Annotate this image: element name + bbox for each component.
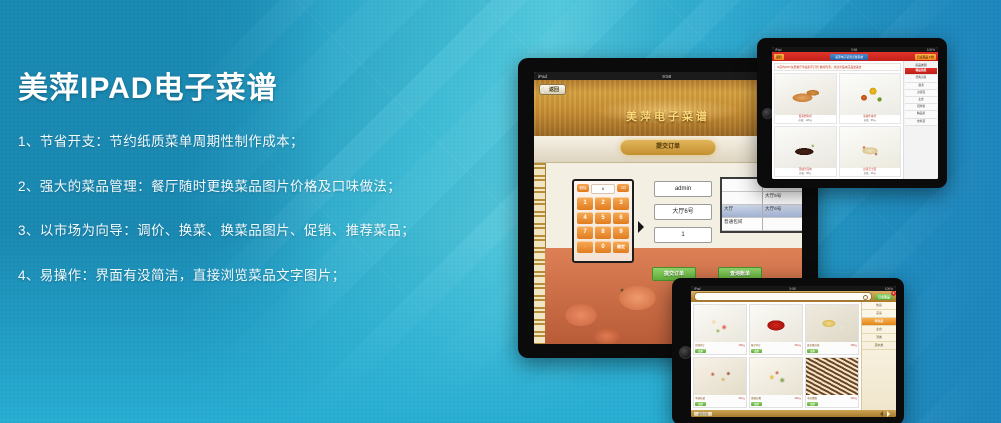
dish-name-row: 青椒炒蛋 ¥26元 [751, 396, 801, 400]
keypad-key[interactable]: 9 [613, 226, 629, 239]
category-item[interactable]: 热菜 [862, 302, 896, 310]
tablet-bottom-screen: iPad 9:58 100% 已点菜品 3 宫保鸡丁 [691, 286, 896, 417]
dish-price: ¥26元 [795, 396, 801, 400]
dish-card[interactable]: 宫保鸡丁 ¥38元 点菜 [693, 304, 747, 355]
promo-notice: ※店内WIFI免费餐厅零差别不打折 餐前例汤。欢迎光临本店品尝美食 [774, 63, 901, 71]
user-field[interactable]: admin [654, 181, 712, 197]
room-area-cell[interactable] [722, 192, 763, 205]
feature-bullet-2: 2、强大的菜品管理：餐厅随时更换菜品图片价格及口味做法； [18, 176, 448, 198]
dish-name: 宫保鸡丁 [695, 343, 705, 347]
keypad-display: 6 [591, 184, 615, 194]
add-to-order-button[interactable]: 点菜 [695, 402, 706, 406]
keypad-backspace-icon[interactable]: ⌫ [617, 184, 629, 192]
category-item-active[interactable]: 精品热菜 [905, 68, 937, 75]
dish-card[interactable]: 黑椒汁煎肉 价格：88元 [774, 126, 837, 177]
dish-price: ¥42元 [795, 343, 801, 347]
dish-caption: 奶香芝士面 价格：48元 [840, 168, 901, 176]
dish-image [750, 358, 802, 395]
add-to-order-button[interactable]: 点菜 [695, 349, 706, 353]
dish-price: 价格：88元 [775, 172, 836, 175]
table-field[interactable]: 大厅6号 [654, 204, 712, 220]
dish-price: 价格：68元 [840, 119, 901, 122]
dish-image [694, 358, 746, 395]
dish-card[interactable]: 干锅花菜 ¥32元 点菜 [693, 357, 747, 408]
category-item[interactable]: 汤类 [862, 334, 896, 342]
menu-toolbar: 已点菜品 3 [691, 291, 896, 302]
dish-card[interactable]: 辣子鸡丁 ¥42元 点菜 [749, 304, 803, 355]
category-item[interactable]: 主食 [862, 326, 896, 334]
status-carrier: iPad [694, 287, 700, 291]
keypad-key[interactable]: · [577, 241, 593, 254]
dish-action-row: 点菜 [695, 349, 745, 353]
search-input[interactable] [694, 292, 872, 301]
status-battery: 100% [885, 287, 893, 291]
menu-footer: 返回首页 [691, 410, 896, 417]
feature-bullet-1: 1、节省开支：节约纸质菜单周期性制作成本； [18, 131, 448, 153]
pagination-controls [877, 411, 893, 417]
dish-caption: 黑椒汁煎肉 价格：88元 [775, 168, 836, 176]
status-clock: 9:58 [790, 287, 796, 291]
feature-bullet-4: 4、易操作：界面有没简洁，直接浏览菜品文字图片； [18, 265, 448, 287]
category-item[interactable]: 凉菜 [862, 310, 896, 318]
room-table-cell-selected[interactable]: 大厅6号 [763, 205, 802, 218]
category-item[interactable]: 精品菜 [905, 111, 937, 118]
status-battery: 100% [927, 48, 935, 52]
room-area-cell-selected[interactable]: 大厅 [722, 205, 763, 218]
dish-card[interactable]: 青椒炒蛋 ¥26元 点菜 [749, 357, 803, 408]
category-item[interactable]: 招牌菜 [905, 104, 937, 111]
dish-image [694, 305, 746, 342]
category-item[interactable]: 过桥面 [905, 90, 937, 97]
dish-image [806, 358, 858, 395]
room-area-cell[interactable]: 普通包间 [722, 218, 763, 231]
keypad-key[interactable]: 3 [613, 197, 629, 210]
dish-price: 价格：48元 [840, 172, 901, 175]
dish-name: 干锅花菜 [695, 396, 705, 400]
menu-header-bar: 返回 美萍电子菜谱点餐系统 已点菜品 0 份 [772, 52, 938, 61]
dish-action-row: 点菜 [751, 349, 801, 353]
dish-caption: 青椒炒蛋 ¥26元 点菜 [750, 395, 802, 407]
dish-name: 辣子鸡丁 [751, 343, 761, 347]
keypad-key[interactable]: 6 [613, 212, 629, 225]
dish-image [775, 127, 836, 168]
dish-name-row: 黄金蛋炒饭 ¥28元 [807, 343, 857, 347]
room-table-cell[interactable] [763, 218, 802, 231]
dish-image [750, 305, 802, 342]
category-item[interactable]: 饮料酒 [905, 119, 937, 126]
tablet-device-bottom: iPad 9:58 100% 已点菜品 3 宫保鸡丁 [672, 278, 904, 423]
add-to-order-button[interactable]: 点菜 [807, 349, 818, 353]
dish-name: 黄金蛋炒饭 [807, 343, 820, 347]
dish-image [840, 127, 901, 168]
status-carrier: iPad [775, 48, 781, 52]
keypad-delete-tag[interactable]: 删除 [577, 184, 589, 192]
form-fields: admin 大厅6号 1 [654, 181, 712, 250]
keypad-grid: 1 2 3 4 5 6 7 8 9 · 0 确定 [577, 197, 629, 253]
menu-body: 宫保鸡丁 ¥38元 点菜 辣子鸡丁 [691, 302, 896, 410]
prev-arrow-icon[interactable] [877, 411, 883, 417]
keypad-confirm-key[interactable]: 确定 [613, 241, 629, 254]
dish-name: 千层蛋糕 [807, 396, 817, 400]
dish-name-row: 宫保鸡丁 ¥38元 [695, 343, 745, 347]
dish-card[interactable]: 奶香芝士面 价格：48元 [839, 126, 902, 177]
dish-name-row: 干锅花菜 ¥32元 [695, 396, 745, 400]
dish-action-row: 点菜 [807, 349, 857, 353]
ordered-items-button[interactable]: 已点菜品 0 份 [915, 54, 936, 60]
menu-header-title: 美萍电子菜谱点餐系统 [830, 54, 868, 60]
keypad-key[interactable]: 7 [577, 226, 593, 239]
keypad-key[interactable]: 8 [595, 226, 611, 239]
banner-stage: 美萍IPAD电子菜谱 1、节省开支：节约纸质菜单周期性制作成本； 2、强大的菜品… [0, 0, 1001, 423]
dish-price: ¥28元 [851, 343, 857, 347]
keypad-key[interactable]: 5 [595, 212, 611, 225]
submit-order-pill[interactable]: 提交订单 [621, 140, 716, 155]
room-table-cell[interactable]: 大厅5号 [763, 192, 802, 205]
count-field[interactable]: 1 [654, 227, 712, 243]
back-button[interactable]: 返回 [539, 84, 566, 95]
keypad-key[interactable]: 0 [595, 241, 611, 254]
numeric-keypad[interactable]: 删除 6 ⌫ 1 2 3 4 5 6 7 8 9 · [572, 179, 634, 263]
page-title: 美萍IPAD电子菜谱 [18, 72, 448, 105]
dish-name: 青椒炒蛋 [751, 396, 761, 400]
status-carrier: iPad [538, 74, 547, 79]
status-clock: 9:58 [851, 48, 857, 52]
feature-bullet-3: 3、以市场为向导：调价、换菜、换菜品图片、促销、推荐菜品； [18, 220, 448, 242]
dish-price: ¥18元 [851, 396, 857, 400]
dish-caption: 黄金蛋炒饭 ¥28元 点菜 [806, 342, 858, 354]
category-item[interactable]: 酒水类 [862, 342, 896, 350]
category-item-active[interactable]: 特色菜 [862, 318, 896, 326]
add-to-order-button[interactable]: 点菜 [751, 402, 762, 406]
dish-image [806, 305, 858, 342]
category-sidebar: 热菜 凉菜 特色菜 主食 汤类 酒水类 [861, 302, 896, 410]
dish-card[interactable]: 彩椒牛柳丝 价格：68元 [839, 73, 902, 124]
add-to-order-button[interactable]: 点菜 [807, 402, 818, 406]
keypad-key[interactable]: 4 [577, 212, 593, 225]
category-item[interactable]: 经典凉菜 [905, 75, 937, 82]
pointer-arrow-icon [638, 221, 650, 233]
dish-caption: 干锅花菜 ¥32元 点菜 [694, 395, 746, 407]
home-nav-button[interactable]: 返回首页 [694, 412, 712, 416]
dish-caption: 辣子鸡丁 ¥42元 点菜 [750, 342, 802, 354]
dish-action-row: 点菜 [807, 402, 857, 406]
dish-caption: 千层蛋糕 ¥18元 点菜 [806, 395, 858, 407]
add-to-order-button[interactable]: 点菜 [751, 349, 762, 353]
dish-action-row: 点菜 [695, 402, 745, 406]
dish-card[interactable]: 千层蛋糕 ¥18元 点菜 [805, 357, 859, 408]
dish-action-row: 点菜 [751, 402, 801, 406]
cart-count-badge: 3 [891, 291, 896, 296]
keypad-display-row: 删除 6 ⌫ [577, 184, 629, 194]
app-title: 美萍电子菜谱 [534, 108, 802, 124]
category-sidebar: 菜品类别 精品热菜 经典凉菜 靓汤 过桥面 主食 招牌菜 精品菜 饮料酒 [903, 61, 938, 179]
category-item[interactable]: 主食 [905, 97, 937, 104]
keypad-key[interactable]: 1 [577, 197, 593, 210]
next-arrow-icon[interactable] [887, 411, 893, 417]
back-button[interactable]: 返回 [774, 54, 784, 60]
dish-image [840, 74, 901, 115]
status-clock: 9:58 [662, 74, 671, 79]
category-item[interactable]: 靓汤 [905, 83, 937, 90]
dish-name-row: 千层蛋糕 ¥18元 [807, 396, 857, 400]
cart-label: 已点菜品 [878, 295, 890, 299]
keypad-key[interactable]: 2 [595, 197, 611, 210]
dish-price: ¥32元 [739, 396, 745, 400]
cart-button[interactable]: 已点菜品 3 [875, 294, 893, 300]
dish-name-row: 辣子鸡丁 ¥42元 [751, 343, 801, 347]
dish-caption: 彩椒牛柳丝 价格：68元 [840, 115, 901, 123]
dish-caption: 宫保鸡丁 ¥38元 点菜 [694, 342, 746, 354]
marketing-copy: 美萍IPAD电子菜谱 1、节省开支：节约纸质菜单周期性制作成本； 2、强大的菜品… [18, 72, 448, 309]
dish-grid: 宫保鸡丁 ¥38元 点菜 辣子鸡丁 [691, 302, 861, 410]
dish-card[interactable]: 黄金蛋炒饭 ¥28元 点菜 [805, 304, 859, 355]
dish-price: ¥38元 [739, 343, 745, 347]
